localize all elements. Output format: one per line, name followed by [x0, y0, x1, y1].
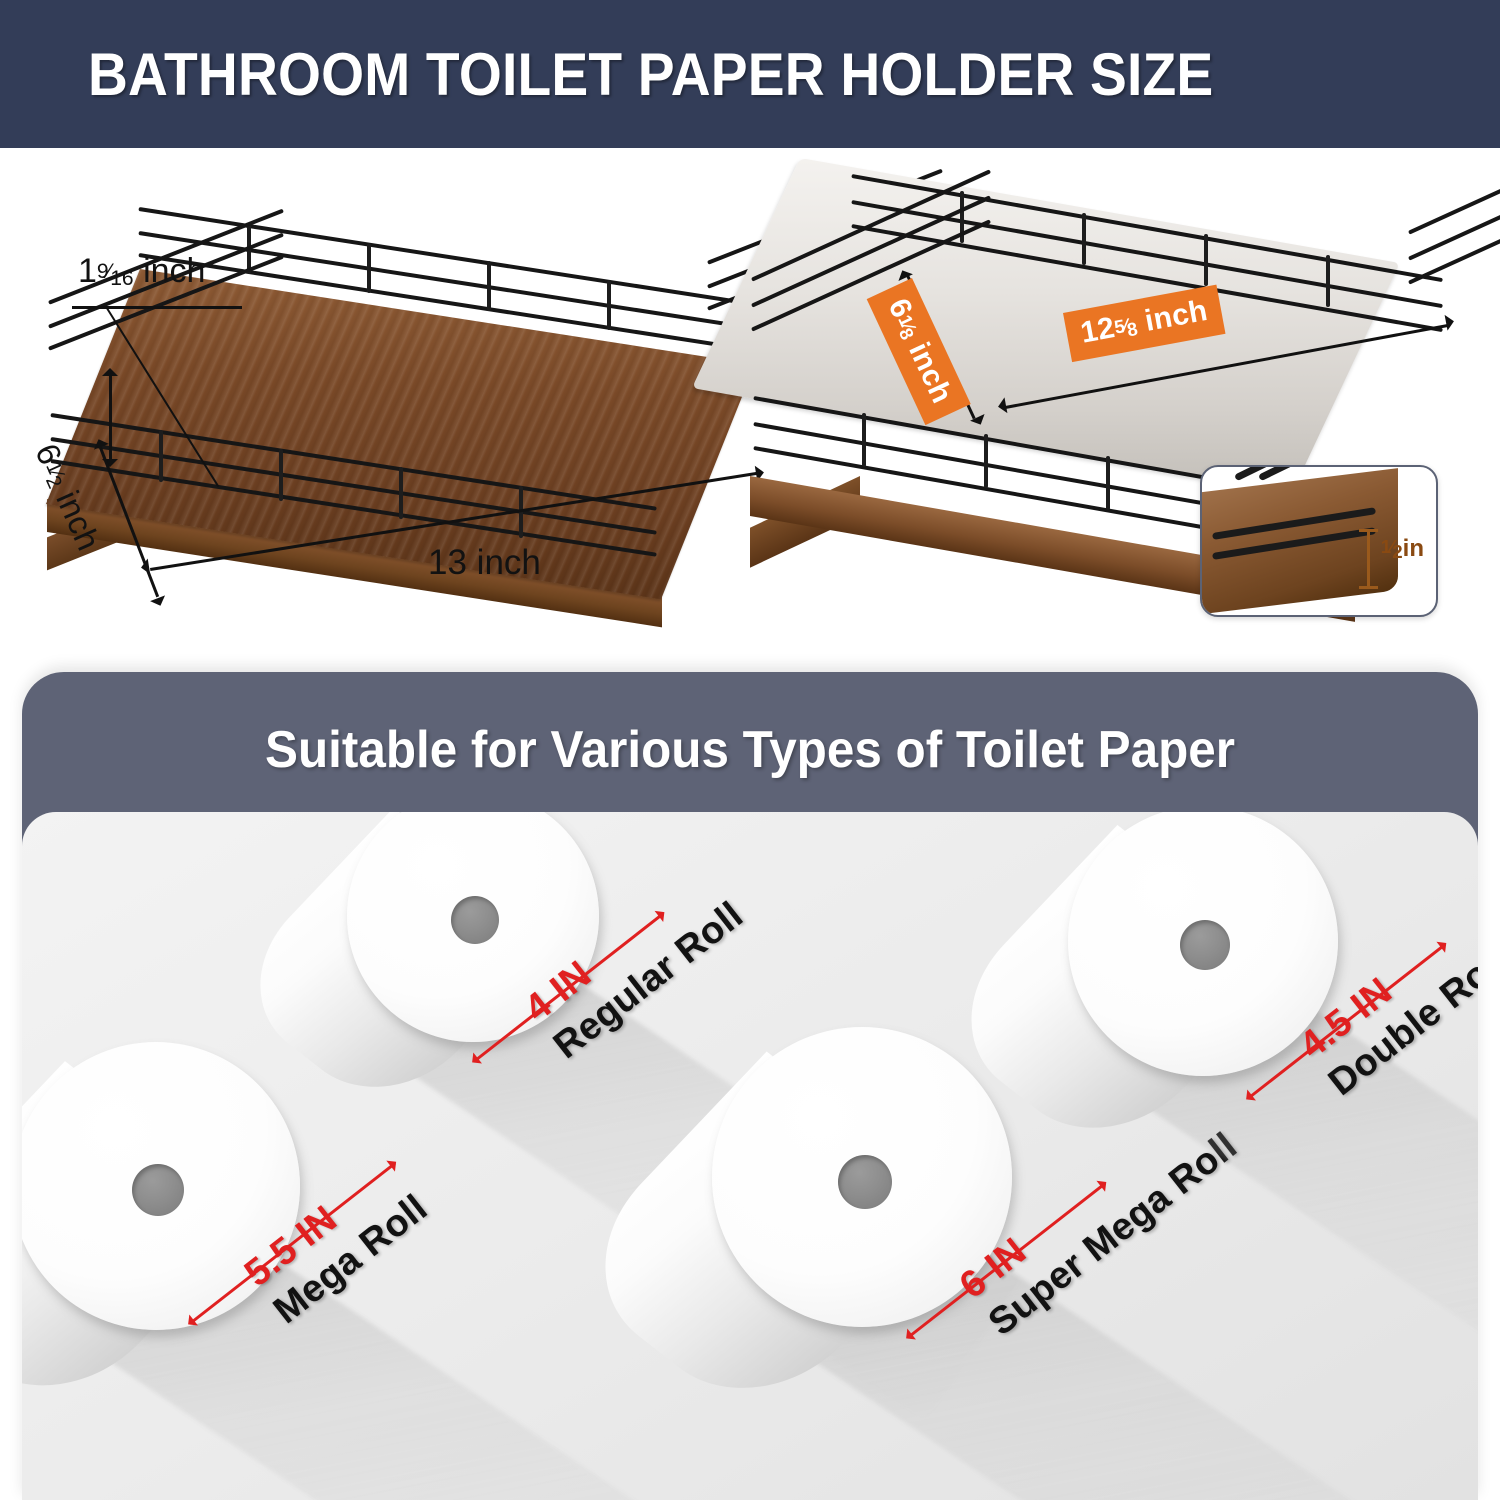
tray-wood-surface: [46, 269, 755, 599]
height-arrow-head-up: [102, 368, 118, 376]
header-banner: BATHROOM TOILET PAPER HOLDER SIZE: [0, 0, 1500, 148]
rail-post-b4: [607, 280, 611, 330]
closeup-fraction: 1⁄2: [1381, 536, 1403, 558]
dimension-height-value: 1: [78, 252, 97, 290]
roll-hub-regular: [451, 896, 499, 944]
rail-post-f1: [159, 430, 163, 482]
rail2-post-b4: [1326, 255, 1330, 307]
rail2-post-b3: [1204, 234, 1208, 286]
tray-exterior-illustration: [95, 183, 775, 603]
section-title: Suitable for Various Types of Toilet Pap…: [58, 720, 1441, 780]
height-arrow-shaft: [109, 376, 112, 461]
dimension-label-length: 13 inch: [428, 543, 541, 583]
rail2-post-b2: [1082, 213, 1086, 265]
rail2-post-f2: [984, 434, 988, 488]
rail-post-b2: [367, 243, 371, 293]
roll-hub-double: [1180, 920, 1230, 970]
dimension-height-fraction: 9⁄16: [97, 260, 134, 284]
roll-hub-mega: [132, 1164, 184, 1216]
closeup-measure-label: 1⁄2in: [1381, 535, 1424, 563]
badge-inner-length-unit: inch: [1142, 294, 1210, 338]
closeup-unit: in: [1403, 535, 1424, 562]
rail-post-b3: [487, 261, 491, 311]
rail2-post-f1: [862, 413, 866, 467]
product-dimension-section: 19⁄16 inch 61⁄2 inch 13 inch: [0, 148, 1500, 663]
dimension-height-unit: inch: [143, 252, 205, 290]
dimension-length-unit: inch: [477, 543, 541, 582]
roll-hub-super-mega: [838, 1155, 892, 1209]
dimension-length-value: 13: [428, 543, 467, 582]
closeup-measure-bracket: [1367, 529, 1370, 589]
rail-post-f3: [399, 467, 403, 519]
rolls-showcase-card: 5.5 IN Mega Roll 4 IN Regular Roll 6 IN …: [22, 812, 1478, 1500]
rail2-right-mid: [1408, 148, 1500, 260]
rail-post-f2: [279, 449, 283, 501]
badge-inner-length-fraction: 5⁄8: [1112, 313, 1138, 339]
rail-post-f4: [519, 486, 523, 538]
rail-height-closeup-card: 1⁄2in: [1200, 465, 1438, 617]
toilet-paper-types-section: Suitable for Various Types of Toilet Pap…: [22, 672, 1478, 1500]
height-label-underline: [72, 306, 242, 309]
rail2-post-f3: [1106, 456, 1110, 510]
dimension-label-height: 19⁄16 inch: [78, 252, 205, 291]
page-title: BATHROOM TOILET PAPER HOLDER SIZE: [88, 40, 1213, 109]
